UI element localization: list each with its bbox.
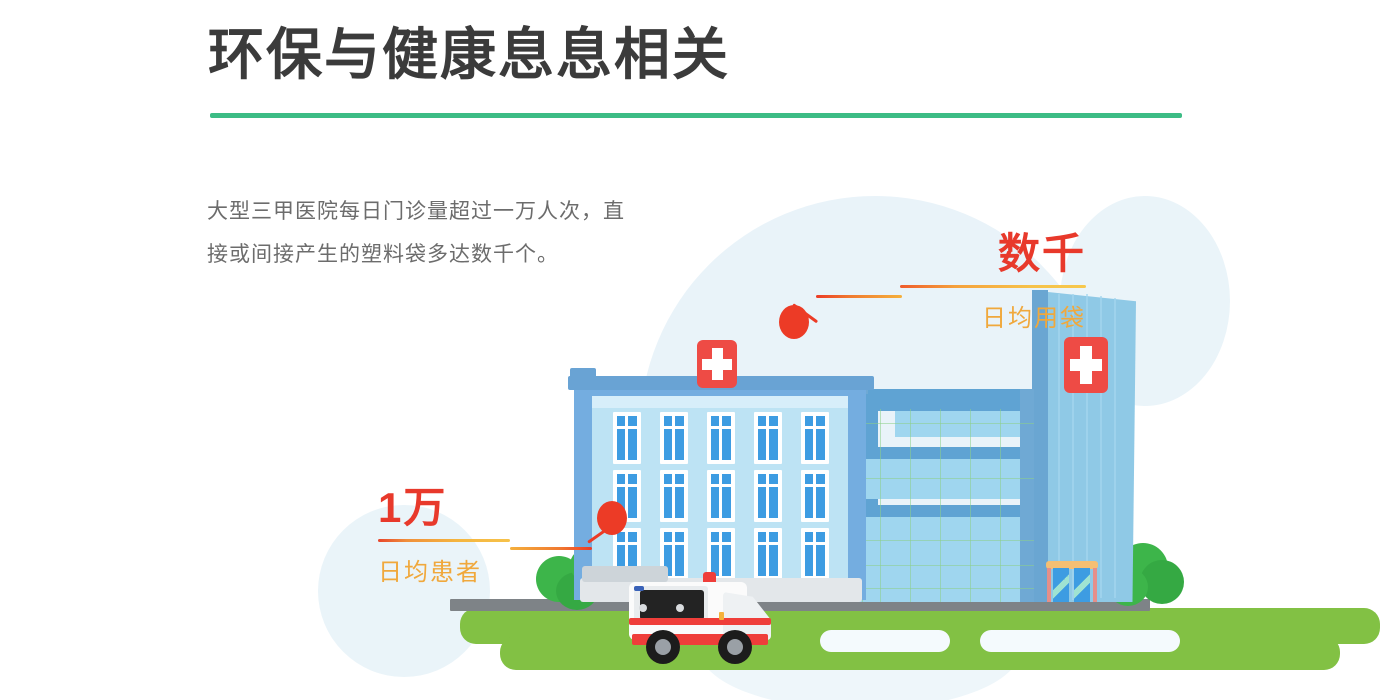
callout-bags: 数千 日均用袋 (900, 233, 1086, 333)
middle-window-band (848, 517, 1034, 602)
tower-left-edge (1032, 290, 1048, 602)
window (613, 412, 641, 464)
main-roof-parapet (570, 368, 596, 378)
window (801, 528, 829, 580)
ambulance-indicator (719, 612, 724, 620)
tower-entrance-post (1047, 568, 1051, 602)
middle-grid-line (848, 423, 1034, 424)
connector-dot (779, 305, 809, 339)
slide-canvas: 环保与健康息息相关 大型三甲医院每日门诊量超过一万人次，直接或间接产生的塑料袋多… (0, 0, 1400, 700)
tower-entrance-glare (1074, 568, 1090, 602)
callout-bags-value: 数千 (900, 233, 1086, 275)
ambulance-stripe (629, 618, 771, 625)
window (707, 470, 735, 522)
callout-bags-rule (900, 285, 1086, 288)
tower-entrance-post (1093, 568, 1097, 602)
middle-grid-line (970, 409, 971, 602)
main-building-step (582, 566, 668, 582)
title-underline (210, 113, 1182, 118)
middle-top-ledge (878, 389, 1034, 403)
connector-segment (816, 295, 902, 298)
tower-stripe (1114, 298, 1116, 598)
middle-grid-line (848, 588, 1034, 589)
window (660, 412, 688, 464)
body-paragraph: 大型三甲医院每日门诊量超过一万人次，直接或间接产生的塑料袋多达数千个。 (207, 190, 637, 276)
ambulance-roof-light (634, 586, 644, 591)
window (754, 470, 782, 522)
connector-dot (597, 501, 627, 535)
middle-grid-line (910, 409, 911, 602)
window (801, 412, 829, 464)
cross-horizontal-icon (1070, 359, 1102, 371)
callout-patients-rule (378, 539, 510, 542)
window (660, 470, 688, 522)
red-cross-sign-tower (1064, 337, 1108, 393)
middle-window-band (848, 459, 1034, 499)
page-title: 环保与健康息息相关 (208, 24, 730, 86)
callout-patients-label: 日均患者 (378, 552, 510, 587)
callout-bags-label: 日均用袋 (900, 298, 1086, 333)
window (754, 412, 782, 464)
tower-stripe (1058, 294, 1060, 600)
window (801, 470, 829, 522)
middle-grid-line (848, 540, 1034, 541)
ambulance-handle (676, 604, 684, 612)
middle-grid-line (880, 409, 881, 602)
callout-patients: 1万 日均患者 (378, 487, 510, 587)
lawn-path-left (820, 630, 950, 652)
main-facade-band (592, 396, 848, 408)
middle-grid-line (940, 409, 941, 602)
ambulance-handle (639, 604, 647, 612)
tower-entrance-glare (1053, 568, 1069, 602)
window (707, 412, 735, 464)
ambulance-wheel (646, 630, 680, 664)
middle-grid-line (848, 478, 1034, 479)
ambulance-window (640, 590, 704, 620)
middle-frame-right (1020, 389, 1034, 602)
callout-patients-value: 1万 (378, 487, 510, 529)
ambulance-wheel (718, 630, 752, 664)
middle-grid-line (1000, 409, 1001, 602)
cross-horizontal-icon (702, 359, 732, 370)
middle-grid-line (848, 565, 1034, 566)
window (754, 528, 782, 580)
middle-band-ledge (878, 403, 1034, 411)
lawn-path-right (980, 630, 1180, 652)
ambulance-beacon-icon (703, 572, 716, 582)
connector-segment (510, 547, 592, 550)
red-cross-sign-front (697, 340, 737, 388)
